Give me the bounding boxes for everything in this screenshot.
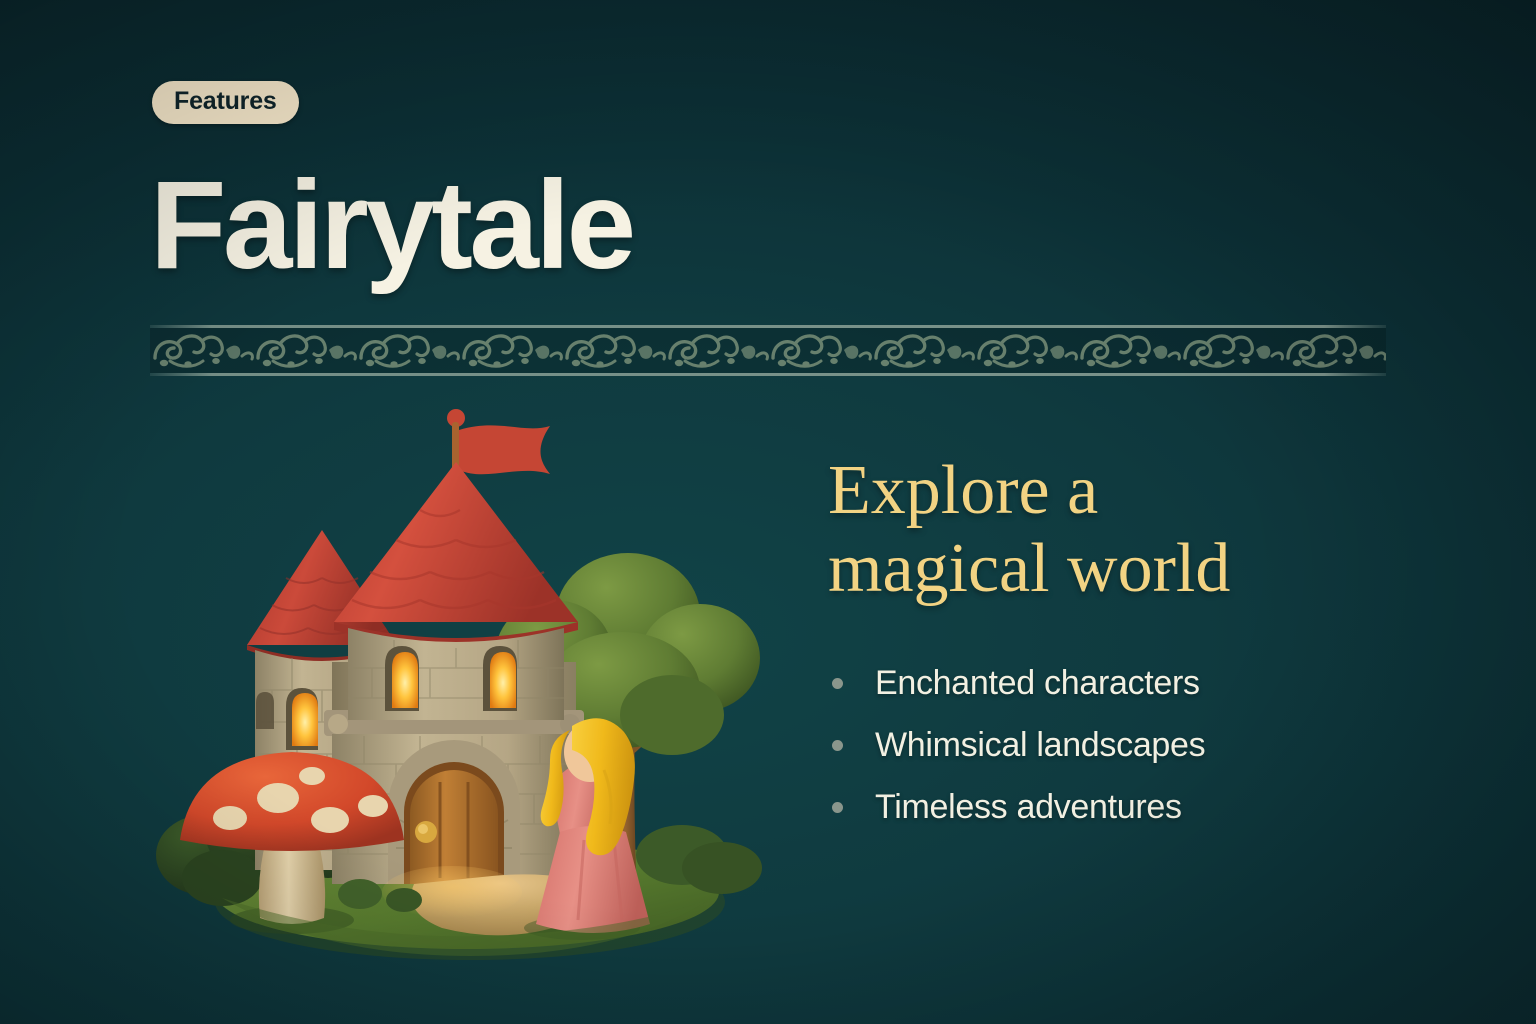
list-item: Whimsical landscapes	[832, 714, 1392, 776]
list-item-label: Whimsical landscapes	[875, 726, 1205, 765]
list-item: Timeless adventures	[832, 776, 1392, 838]
bullet-dot-icon	[832, 802, 843, 813]
main-tower	[334, 409, 578, 720]
list-item: Enchanted characters	[832, 652, 1392, 714]
bullet-dot-icon	[832, 678, 843, 689]
features-badge[interactable]: Features	[152, 81, 299, 124]
ornamental-divider	[150, 318, 1386, 380]
page-title: Fairytale	[150, 160, 633, 291]
headline-line-1: Explore a	[828, 452, 1388, 530]
headline: Explore a magical world	[828, 452, 1388, 609]
fairytale-castle-illustration	[152, 400, 792, 980]
castle-scene-icon	[152, 400, 792, 980]
list-item-label: Timeless adventures	[875, 788, 1182, 827]
divider-rule-bottom	[150, 373, 1386, 376]
list-item-label: Enchanted characters	[875, 664, 1200, 703]
feature-list: Enchanted characters Whimsical landscape…	[832, 652, 1392, 838]
bullet-dot-icon	[832, 740, 843, 751]
slide-canvas: Features Fairytale	[0, 0, 1536, 1024]
divider-ornament-band	[150, 328, 1386, 373]
headline-line-2: magical world	[828, 530, 1388, 608]
floral-scroll-icon	[150, 328, 1386, 373]
